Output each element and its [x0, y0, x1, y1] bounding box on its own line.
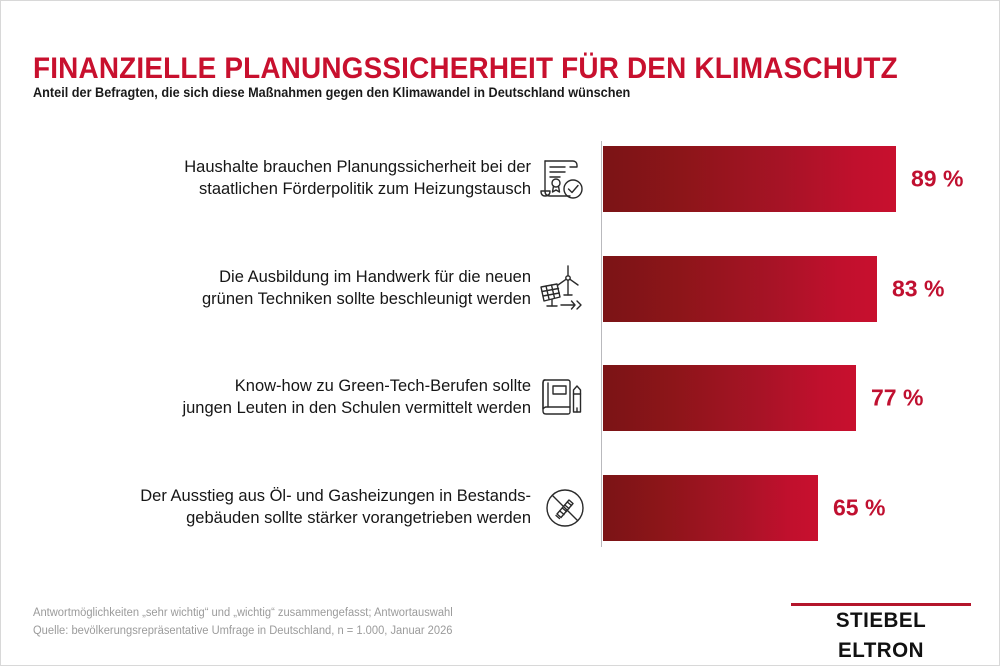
- bar: [603, 256, 877, 322]
- row-label-line: staatlichen Förderpolitik zum Heizungsta…: [71, 179, 531, 201]
- bar-value-label: 89 %: [911, 166, 963, 193]
- row-label: Die Ausbildung im Handwerk für die neuen…: [71, 267, 531, 311]
- bar: [603, 365, 856, 431]
- row-label: Know-how zu Green-Tech-Berufen sollte ju…: [71, 376, 531, 420]
- row-label-line: Der Ausstieg aus Öl- und Gasheizungen in…: [31, 486, 531, 508]
- bar-value-label: 83 %: [892, 276, 944, 303]
- book-pencil-icon: [533, 370, 589, 426]
- footnote: Antwortmöglichkeiten „sehr wichtig“ und …: [33, 605, 615, 641]
- infographic-page: FINANZIELLE PLANUNGSSICHERHEIT FÜR DEN K…: [0, 0, 1000, 666]
- footnote-line: Antwortmöglichkeiten „sehr wichtig“ und …: [33, 605, 615, 623]
- chart-row: Know-how zu Green-Tech-Berufen sollte ju…: [1, 365, 1000, 431]
- stiebel-eltron-logo: STIEBEL ELTRON: [791, 603, 971, 647]
- row-label-line: grünen Techniken sollte beschleunigt wer…: [71, 289, 531, 311]
- row-label: Der Ausstieg aus Öl- und Gasheizungen in…: [31, 486, 531, 530]
- row-label-line: Know-how zu Green-Tech-Berufen sollte: [71, 376, 531, 398]
- solar-wind-icon: [533, 261, 589, 317]
- row-label-line: gebäuden sollte stärker vorangetrieben w…: [31, 508, 531, 530]
- bar: [603, 475, 818, 541]
- chart-row: Der Ausstieg aus Öl- und Gasheizungen in…: [1, 475, 1000, 541]
- row-label-line: jungen Leuten in den Schulen vermittelt …: [71, 398, 531, 420]
- no-radiator-icon: [537, 480, 593, 536]
- bar: [603, 146, 896, 212]
- row-label-line: Die Ausbildung im Handwerk für die neuen: [71, 267, 531, 289]
- footnote-line: Quelle: bevölkerungsrepräsentative Umfra…: [33, 623, 615, 641]
- row-label-line: Haushalte brauchen Planungssicherheit be…: [71, 157, 531, 179]
- logo-text: STIEBEL ELTRON: [793, 606, 969, 666]
- row-label: Haushalte brauchen Planungssicherheit be…: [71, 157, 531, 201]
- bar-value-label: 77 %: [871, 385, 923, 412]
- bar-chart: Haushalte brauchen Planungssicherheit be…: [1, 1, 1000, 666]
- chart-row: Die Ausbildung im Handwerk für die neuen…: [1, 256, 1000, 322]
- chart-row: Haushalte brauchen Planungssicherheit be…: [1, 146, 1000, 212]
- bar-value-label: 65 %: [833, 495, 885, 522]
- certificate-check-icon: [533, 151, 589, 207]
